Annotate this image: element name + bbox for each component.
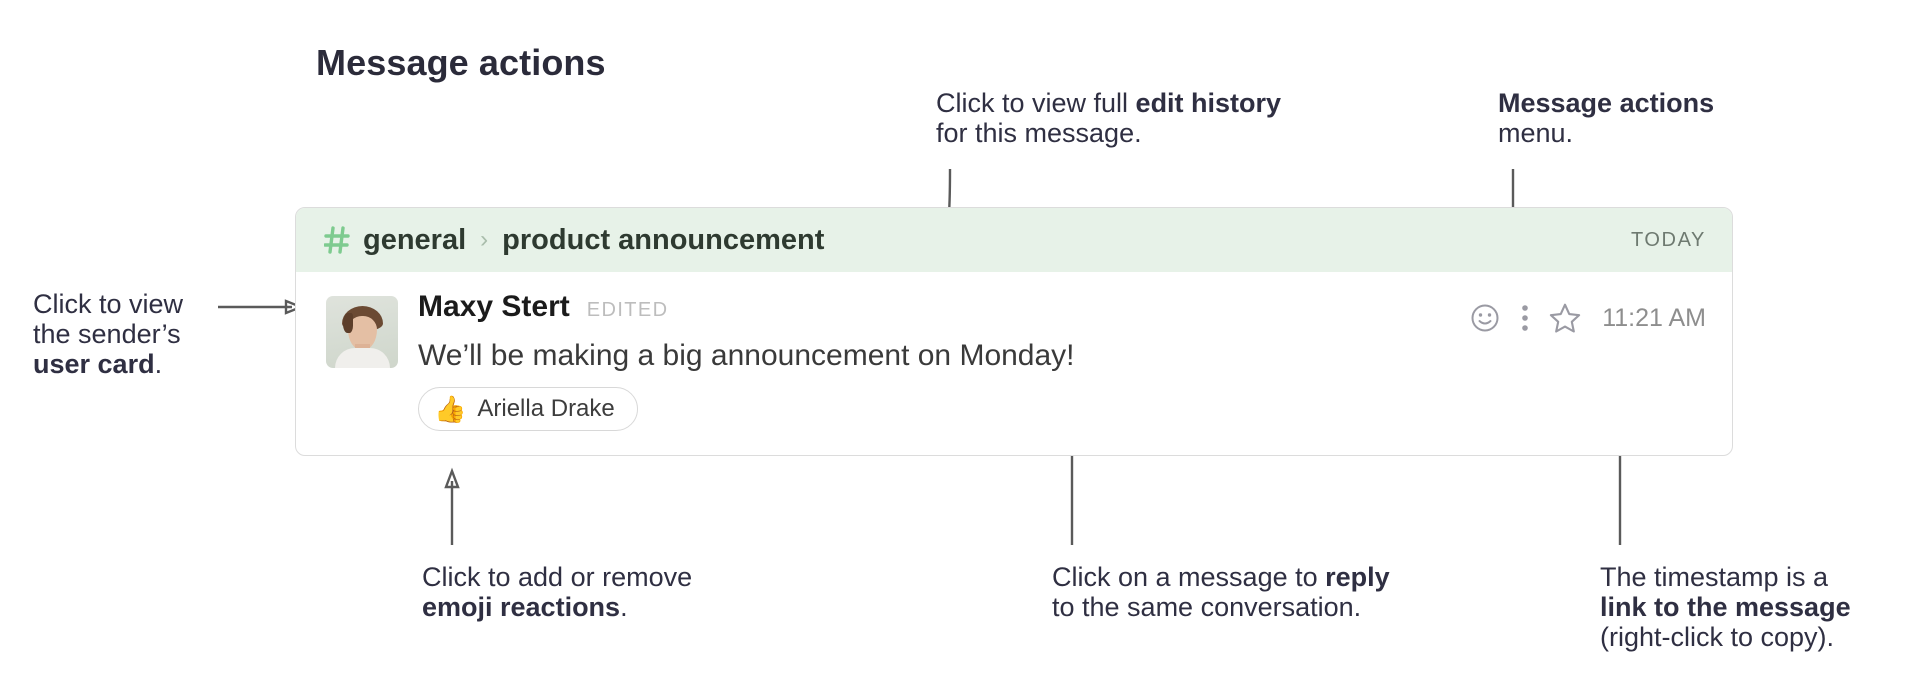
channel-header: general › product announcement TODAY bbox=[296, 208, 1732, 272]
chevron-right-icon: › bbox=[480, 228, 488, 252]
annotation-emphasis: edit history bbox=[1136, 88, 1282, 118]
annotation-line: user card. bbox=[33, 349, 183, 379]
reactions-row: 👍 Ariella Drake bbox=[418, 387, 1706, 431]
annotation-text: (right-click to copy). bbox=[1600, 622, 1834, 652]
annotation-user-card: Click to viewthe sender’suser card. bbox=[33, 289, 183, 380]
annotation-text: the sender’s bbox=[33, 319, 181, 349]
arrow-emoji-reactions bbox=[446, 471, 458, 545]
kebab-menu-icon[interactable] bbox=[1508, 298, 1542, 338]
annotation-line: link to the message bbox=[1600, 592, 1851, 622]
annotation-edit-history: Click to view full edit historyfor this … bbox=[936, 88, 1281, 148]
annotation-line: The timestamp is a bbox=[1600, 562, 1851, 592]
message-timestamp-link[interactable]: 11:21 AM bbox=[1602, 304, 1706, 333]
annotation-text: Click to view bbox=[33, 289, 183, 319]
annotation-text: Click on a message to bbox=[1052, 562, 1325, 592]
page-title: Message actions bbox=[316, 42, 606, 84]
annotation-text: . bbox=[155, 349, 163, 379]
annotation-text: to the same conversation. bbox=[1052, 592, 1361, 622]
annotation-text: The timestamp is a bbox=[1600, 562, 1828, 592]
message-actions-toolbar: 11:21 AM bbox=[1462, 298, 1706, 338]
message-text[interactable]: We’ll be making a big announcement on Mo… bbox=[418, 339, 1706, 373]
hash-icon bbox=[324, 225, 350, 255]
annotation-emphasis: reply bbox=[1325, 562, 1390, 592]
annotation-text: Click to add or remove bbox=[422, 562, 692, 592]
annotation-text: . bbox=[620, 592, 628, 622]
message-row[interactable]: Maxy Stert EDITED We’ll be making a big … bbox=[296, 272, 1732, 455]
emoji-smiley-icon[interactable] bbox=[1462, 298, 1508, 338]
avatar[interactable] bbox=[326, 296, 398, 368]
reaction-user-name: Ariella Drake bbox=[477, 395, 614, 423]
edited-badge[interactable]: EDITED bbox=[587, 299, 669, 322]
annotation-line: (right-click to copy). bbox=[1600, 622, 1851, 652]
annotation-line: the sender’s bbox=[33, 319, 183, 349]
annotation-text: Click to view full bbox=[936, 88, 1136, 118]
date-label: TODAY bbox=[1631, 229, 1706, 252]
annotation-line: Message actions bbox=[1498, 88, 1714, 118]
annotation-message-actions-menu: Message actionsmenu. bbox=[1498, 88, 1714, 148]
annotation-line: menu. bbox=[1498, 118, 1714, 148]
annotation-line: Click to add or remove bbox=[422, 562, 692, 592]
avatar-shoulders bbox=[335, 348, 390, 368]
annotation-reply: Click on a message to replyto the same c… bbox=[1052, 562, 1390, 622]
topic-name[interactable]: product announcement bbox=[502, 224, 824, 257]
sender-name[interactable]: Maxy Stert bbox=[418, 290, 570, 324]
reaction-pill[interactable]: 👍 Ariella Drake bbox=[418, 387, 638, 431]
annotation-emphasis: user card bbox=[33, 349, 155, 379]
annotation-timestamp-link: The timestamp is alink to the message(ri… bbox=[1600, 562, 1851, 653]
annotation-emphasis: emoji reactions bbox=[422, 592, 620, 622]
star-icon[interactable] bbox=[1542, 298, 1588, 338]
channel-name[interactable]: general bbox=[363, 224, 466, 257]
annotation-line: to the same conversation. bbox=[1052, 592, 1390, 622]
annotation-line: Click on a message to reply bbox=[1052, 562, 1390, 592]
annotation-emphasis: link to the message bbox=[1600, 592, 1851, 622]
annotation-line: emoji reactions. bbox=[422, 592, 692, 622]
annotation-emphasis: Message actions bbox=[1498, 88, 1714, 118]
annotation-text: menu. bbox=[1498, 118, 1573, 148]
message-card: general › product announcement TODAY Max… bbox=[295, 207, 1733, 456]
annotation-emoji-reactions: Click to add or removeemoji reactions. bbox=[422, 562, 692, 622]
arrow-user-card bbox=[218, 301, 301, 313]
thumbs-up-icon: 👍 bbox=[434, 396, 466, 422]
avatar-hair-side bbox=[343, 313, 353, 333]
annotation-line: Click to view bbox=[33, 289, 183, 319]
annotation-line: for this message. bbox=[936, 118, 1281, 148]
annotation-text: for this message. bbox=[936, 118, 1142, 148]
annotation-line: Click to view full edit history bbox=[936, 88, 1281, 118]
